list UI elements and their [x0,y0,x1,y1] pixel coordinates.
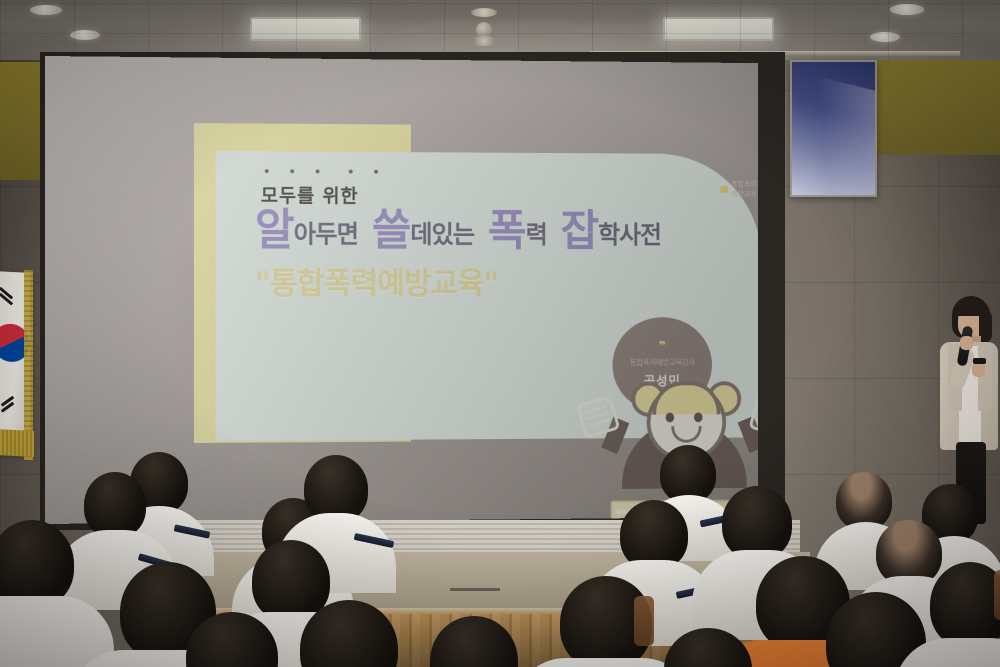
stage-shading [140,614,820,667]
headline-part: 잡 [547,206,598,256]
presentation-slide: 통합폭력예방교육 모두를 위한 알아두면 쓸데있는 폭력 잡학사전 "통합폭력예… [194,123,758,471]
ceiling-speaker-icon [476,22,492,38]
slide-bottom-bar [611,499,758,520]
headline-part: 학사전 [598,221,661,249]
projection-screen: 통합폭력예방교육 모두를 위한 알아두면 쓸데있는 폭력 잡학사전 "통합폭력예… [45,56,758,524]
ceiling-speaker-base [472,36,496,46]
headline-part: 아두면 [294,220,358,249]
slide-logo: 통합폭력예방교육 [720,179,758,199]
presenter-lapel-right [978,343,992,411]
slide-headline: 알아두면 쓸데있는 폭력 잡학사전 [255,209,698,253]
wristwatch-icon [973,358,986,364]
olive-acoustic-panel-right [866,60,1000,155]
mascot-eye-left [666,413,675,423]
slide-subheadline: "통합폭력예방교육" [255,258,498,303]
headline-part: 데있는 [410,220,474,249]
mascot-eye-right [694,412,702,422]
stage-front-slats [140,614,820,667]
headline-part: 폭 [474,206,526,256]
sprinkler-icon [471,8,497,17]
presenter-hand-lower [972,362,985,377]
flag-fringe-bottom [0,429,34,457]
mascot-pointer-triangle [682,471,699,481]
badge-role-text: 통합폭력예방교육강사 [630,357,695,368]
ceiling-round-light [870,32,900,42]
headline-part: 력 [526,220,547,248]
mascot-character [572,369,758,487]
ceiling-round-light [70,30,100,40]
headline-part: 알 [255,205,294,256]
presenter-trousers [956,442,986,524]
banner-gradient [790,69,877,197]
ceiling-panel-light [663,17,774,41]
slide-logo-text: 통합폭력예방교육 [732,179,759,199]
ceiling-round-light [890,4,924,15]
stage-floor [150,552,810,610]
slide-bottom-bar-inner [616,508,758,515]
auditorium-photo: 통합폭력예방교육 모두를 위한 알아두면 쓸데있는 폭력 잡학사전 "통합폭력예… [0,0,1000,667]
presenter [938,296,1000,546]
presenter-hand-upper [960,336,973,350]
ceiling-panel-light [250,17,361,41]
slide-accent-band-left [194,123,216,441]
wall-banner-right [790,60,877,197]
slide-accent-band-top [194,123,411,152]
headline-part: 쓸 [358,205,410,255]
logo-mark-icon [720,186,727,193]
ceiling-round-light [30,5,62,15]
stage-floor-seam [450,588,500,591]
slide-dots-decoration [265,169,382,176]
badge-quote-icon: ❞ [659,341,666,354]
mascot-hair [652,381,720,414]
olive-acoustic-panel-left-edge [0,62,40,180]
